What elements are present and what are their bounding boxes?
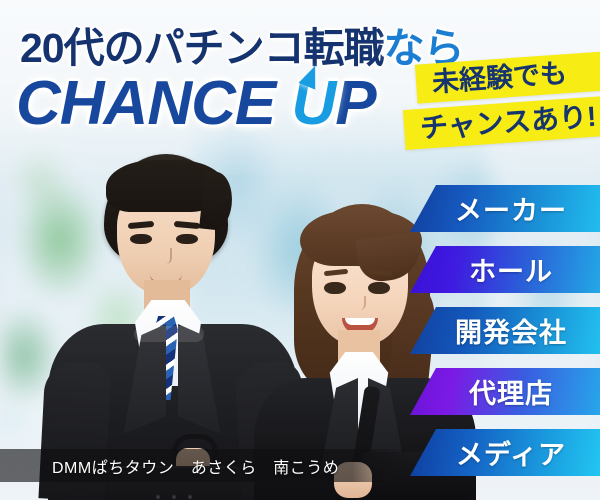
female-nose (356, 296, 366, 310)
inexperience-badge: 未経験でも チャンスあり! (416, 58, 600, 144)
category-tag-media[interactable]: メディア (410, 429, 600, 476)
male-fringe (106, 160, 226, 212)
category-tag-agency[interactable]: 代理店 (410, 368, 600, 415)
category-tag-label: 代理店 (457, 372, 553, 411)
male-nose (161, 248, 172, 264)
male-eye-left (130, 234, 152, 244)
category-tag-label: 開発会社 (443, 311, 567, 350)
category-tag-label: メディア (444, 433, 566, 472)
female-fringe (300, 210, 422, 266)
category-tag-maker[interactable]: メーカー (410, 185, 600, 232)
badge-row-2: チャンスあり! (402, 96, 600, 150)
male-eye-right (176, 234, 198, 244)
category-tag-hall[interactable]: ホール (410, 246, 600, 293)
category-tag-list: メーカー ホール 開発会社 代理店 メディア (410, 185, 600, 476)
female-eye-left (324, 282, 346, 294)
category-tag-label: ホール (457, 250, 553, 289)
badge-row-1: 未経験でも (414, 51, 600, 104)
caption-bar: DMMぱちタウン あさくら 南こうめ (0, 449, 410, 482)
category-tag-label: メーカー (443, 189, 567, 228)
female-eye-right (368, 282, 390, 294)
category-tag-development-company[interactable]: 開発会社 (410, 307, 600, 354)
recruitment-banner[interactable]: 20代のパチンコ転職なら CHANCE UP 未経験でも チャンスあり! メーカ… (0, 0, 600, 500)
male-collar-highlight (134, 326, 204, 342)
male-briefcase-studs (152, 492, 196, 500)
caption-text: DMMぱちタウン あさくら 南こうめ (0, 454, 339, 478)
